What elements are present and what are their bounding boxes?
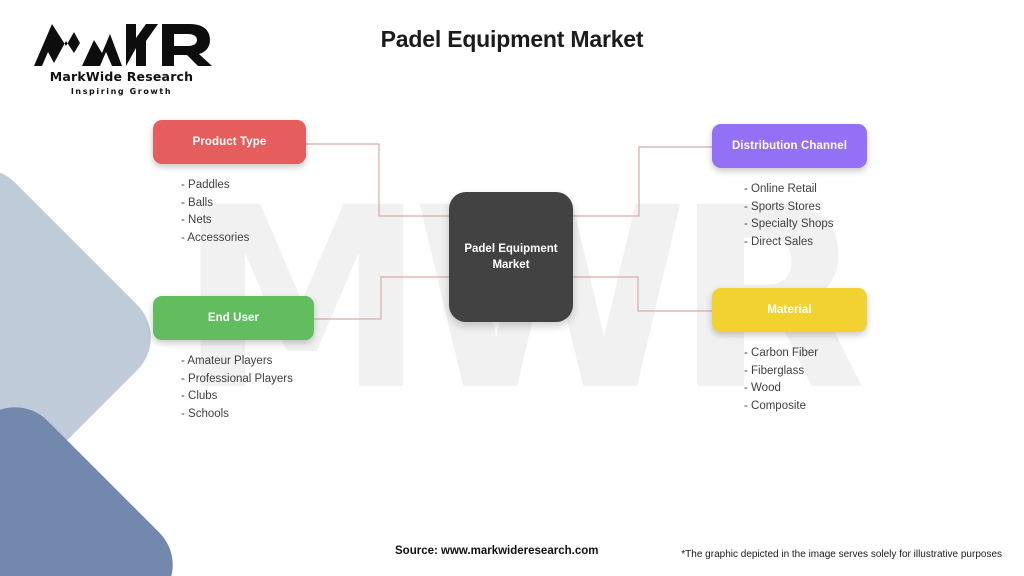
connector-end-user (314, 277, 451, 319)
list-item: - Online Retail (744, 181, 867, 199)
connector-product-type (306, 144, 451, 216)
list-item: - Professional Players (181, 371, 314, 389)
branch-label-material: Material (767, 304, 811, 316)
infographic-canvas: MWR MarkWide Research Inspiring Growth P… (0, 0, 1024, 576)
list-item: - Accessories (181, 230, 306, 248)
branch-chip-material[interactable]: Material (712, 288, 867, 332)
branch-end-user: End User - Amateur Players - Professiona… (153, 296, 314, 423)
list-item: - Nets (181, 212, 306, 230)
branch-items-distribution-channel: - Online Retail - Sports Stores - Specia… (712, 181, 867, 251)
list-item: - Amateur Players (181, 353, 314, 371)
branch-label-distribution-channel: Distribution Channel (732, 140, 847, 152)
list-item: - Composite (744, 398, 867, 416)
center-node-label: Padel Equipment Market (461, 241, 561, 273)
connector-material (571, 277, 714, 311)
list-item: - Carbon Fiber (744, 345, 867, 363)
list-item: - Clubs (181, 388, 314, 406)
branch-items-product-type: - Paddles - Balls - Nets - Accessories (153, 177, 306, 247)
footer-disclaimer: *The graphic depicted in the image serve… (681, 549, 1002, 560)
list-item: - Balls (181, 195, 306, 213)
center-node[interactable]: Padel Equipment Market (449, 192, 573, 322)
list-item: - Wood (744, 380, 867, 398)
list-item: - Sports Stores (744, 199, 867, 217)
connector-distribution-channel (571, 147, 714, 216)
branch-items-end-user: - Amateur Players - Professional Players… (153, 353, 314, 423)
branch-material: Material - Carbon Fiber - Fiberglass - W… (712, 288, 867, 415)
list-item: - Direct Sales (744, 234, 867, 252)
branch-distribution-channel: Distribution Channel - Online Retail - S… (712, 124, 867, 251)
list-item: - Specialty Shops (744, 216, 867, 234)
list-item: - Fiberglass (744, 363, 867, 381)
list-item: - Paddles (181, 177, 306, 195)
footer-source: Source: www.markwideresearch.com (395, 545, 598, 557)
list-item: - Schools (181, 406, 314, 424)
branch-label-end-user: End User (208, 312, 259, 324)
branch-items-material: - Carbon Fiber - Fiberglass - Wood - Com… (712, 345, 867, 415)
branch-chip-distribution-channel[interactable]: Distribution Channel (712, 124, 867, 168)
branch-chip-end-user[interactable]: End User (153, 296, 314, 340)
branch-chip-product-type[interactable]: Product Type (153, 120, 306, 164)
branch-label-product-type: Product Type (193, 136, 267, 148)
branch-product-type: Product Type - Paddles - Balls - Nets - … (153, 120, 306, 247)
